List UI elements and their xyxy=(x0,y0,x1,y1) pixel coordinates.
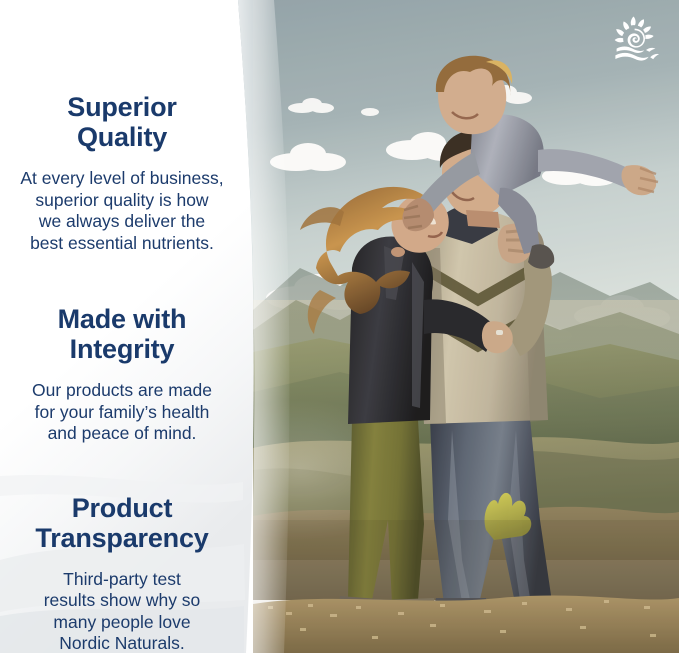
promotional-banner: SuperiorQuality At every level of busine… xyxy=(0,0,679,653)
body-line-2: results show why so xyxy=(44,590,201,610)
benefit-block-made-with-integrity: Made withIntegrity Our products are made… xyxy=(8,304,236,445)
body-line-3: and peace of mind. xyxy=(48,423,197,443)
benefits-copy-column: SuperiorQuality At every level of busine… xyxy=(0,0,244,653)
body-line-1: At every level of business, xyxy=(20,168,223,188)
nordic-naturals-sun-wave-logo-icon xyxy=(606,14,662,70)
body-line-3: many people love xyxy=(53,612,190,632)
heading-line-2: Quality xyxy=(77,122,167,152)
heading-line-1: Superior xyxy=(67,92,176,122)
body-line-2: superior quality is how xyxy=(35,190,208,210)
benefit-block-superior-quality: SuperiorQuality At every level of busine… xyxy=(8,92,236,254)
body-line-1: Third-party test xyxy=(63,569,181,589)
heading-line-2: Transparency xyxy=(35,523,208,553)
body-line-2: for your family’s health xyxy=(35,402,210,422)
body-line-3: we always deliver the xyxy=(39,211,205,231)
heading-line-1: Made with xyxy=(58,304,187,334)
benefit-body-superior-quality: At every level of business,superior qual… xyxy=(8,168,236,254)
body-line-4: best essential nutrients. xyxy=(30,233,214,253)
benefit-block-product-transparency: ProductTransparency Third-party testresu… xyxy=(8,493,236,653)
benefit-heading-made-with-integrity: Made withIntegrity xyxy=(8,304,236,364)
heading-line-1: Product xyxy=(72,493,173,523)
benefit-heading-superior-quality: SuperiorQuality xyxy=(8,92,236,152)
benefit-heading-product-transparency: ProductTransparency xyxy=(8,493,236,553)
heading-line-2: Integrity xyxy=(70,334,175,364)
body-line-4: Nordic Naturals. xyxy=(59,633,184,653)
benefit-body-product-transparency: Third-party testresults show why somany … xyxy=(8,569,236,653)
benefit-body-made-with-integrity: Our products are madefor your family’s h… xyxy=(8,380,236,445)
body-line-1: Our products are made xyxy=(32,380,212,400)
